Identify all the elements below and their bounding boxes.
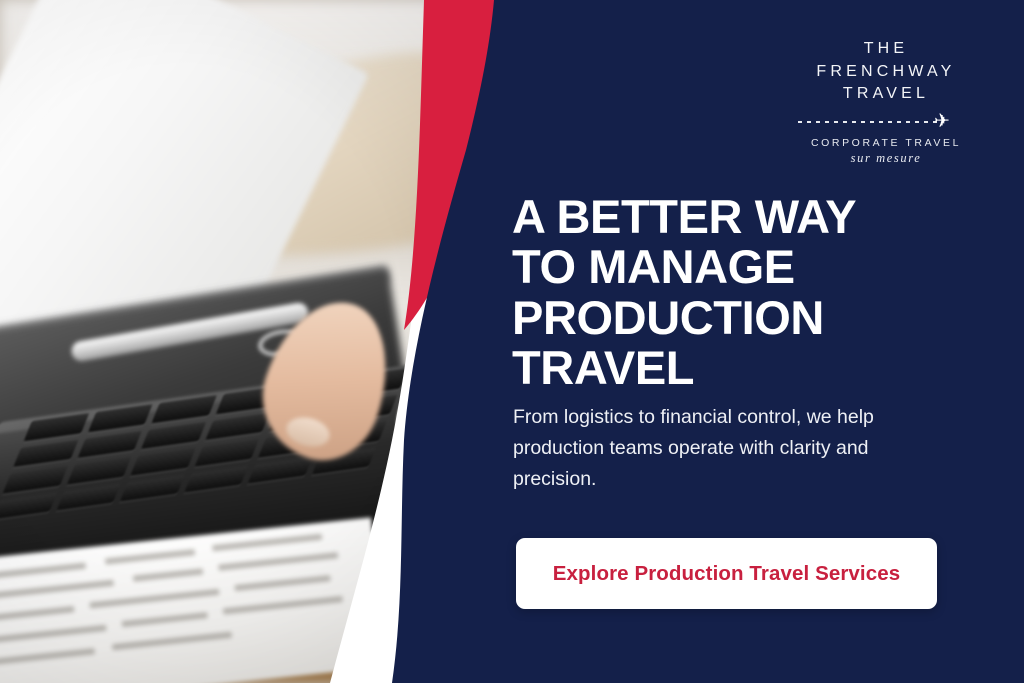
- headline-line-4: TRAVEL: [512, 343, 972, 393]
- logo-divider: ✈: [786, 113, 986, 131]
- logo-line-travel: TRAVEL: [786, 83, 986, 106]
- explore-production-travel-services-button[interactable]: Explore Production Travel Services: [516, 538, 937, 609]
- hero-banner: THE FRENCHWAY TRAVEL ✈ CORPORATE TRAVEL …: [0, 0, 1024, 683]
- airplane-icon: ✈: [934, 112, 950, 131]
- headline-line-3: PRODUCTION: [512, 293, 972, 343]
- headline-line-1: A BETTER WAY: [512, 192, 972, 242]
- logo-line-the: THE: [786, 38, 986, 61]
- headline-line-2: TO MANAGE: [512, 242, 972, 292]
- hero-subtitle: From logistics to financial control, we …: [513, 402, 945, 494]
- brand-logo[interactable]: THE FRENCHWAY TRAVEL ✈ CORPORATE TRAVEL …: [786, 38, 986, 166]
- logo-tagline: sur mesure: [786, 151, 986, 166]
- logo-subtitle: CORPORATE TRAVEL: [786, 137, 986, 149]
- hero-photo: [0, 0, 520, 683]
- page-title: A BETTER WAY TO MANAGE PRODUCTION TRAVEL: [512, 192, 972, 393]
- dotted-line-icon: [798, 121, 938, 123]
- logo-line-frenchway: FRENCHWAY: [786, 61, 986, 84]
